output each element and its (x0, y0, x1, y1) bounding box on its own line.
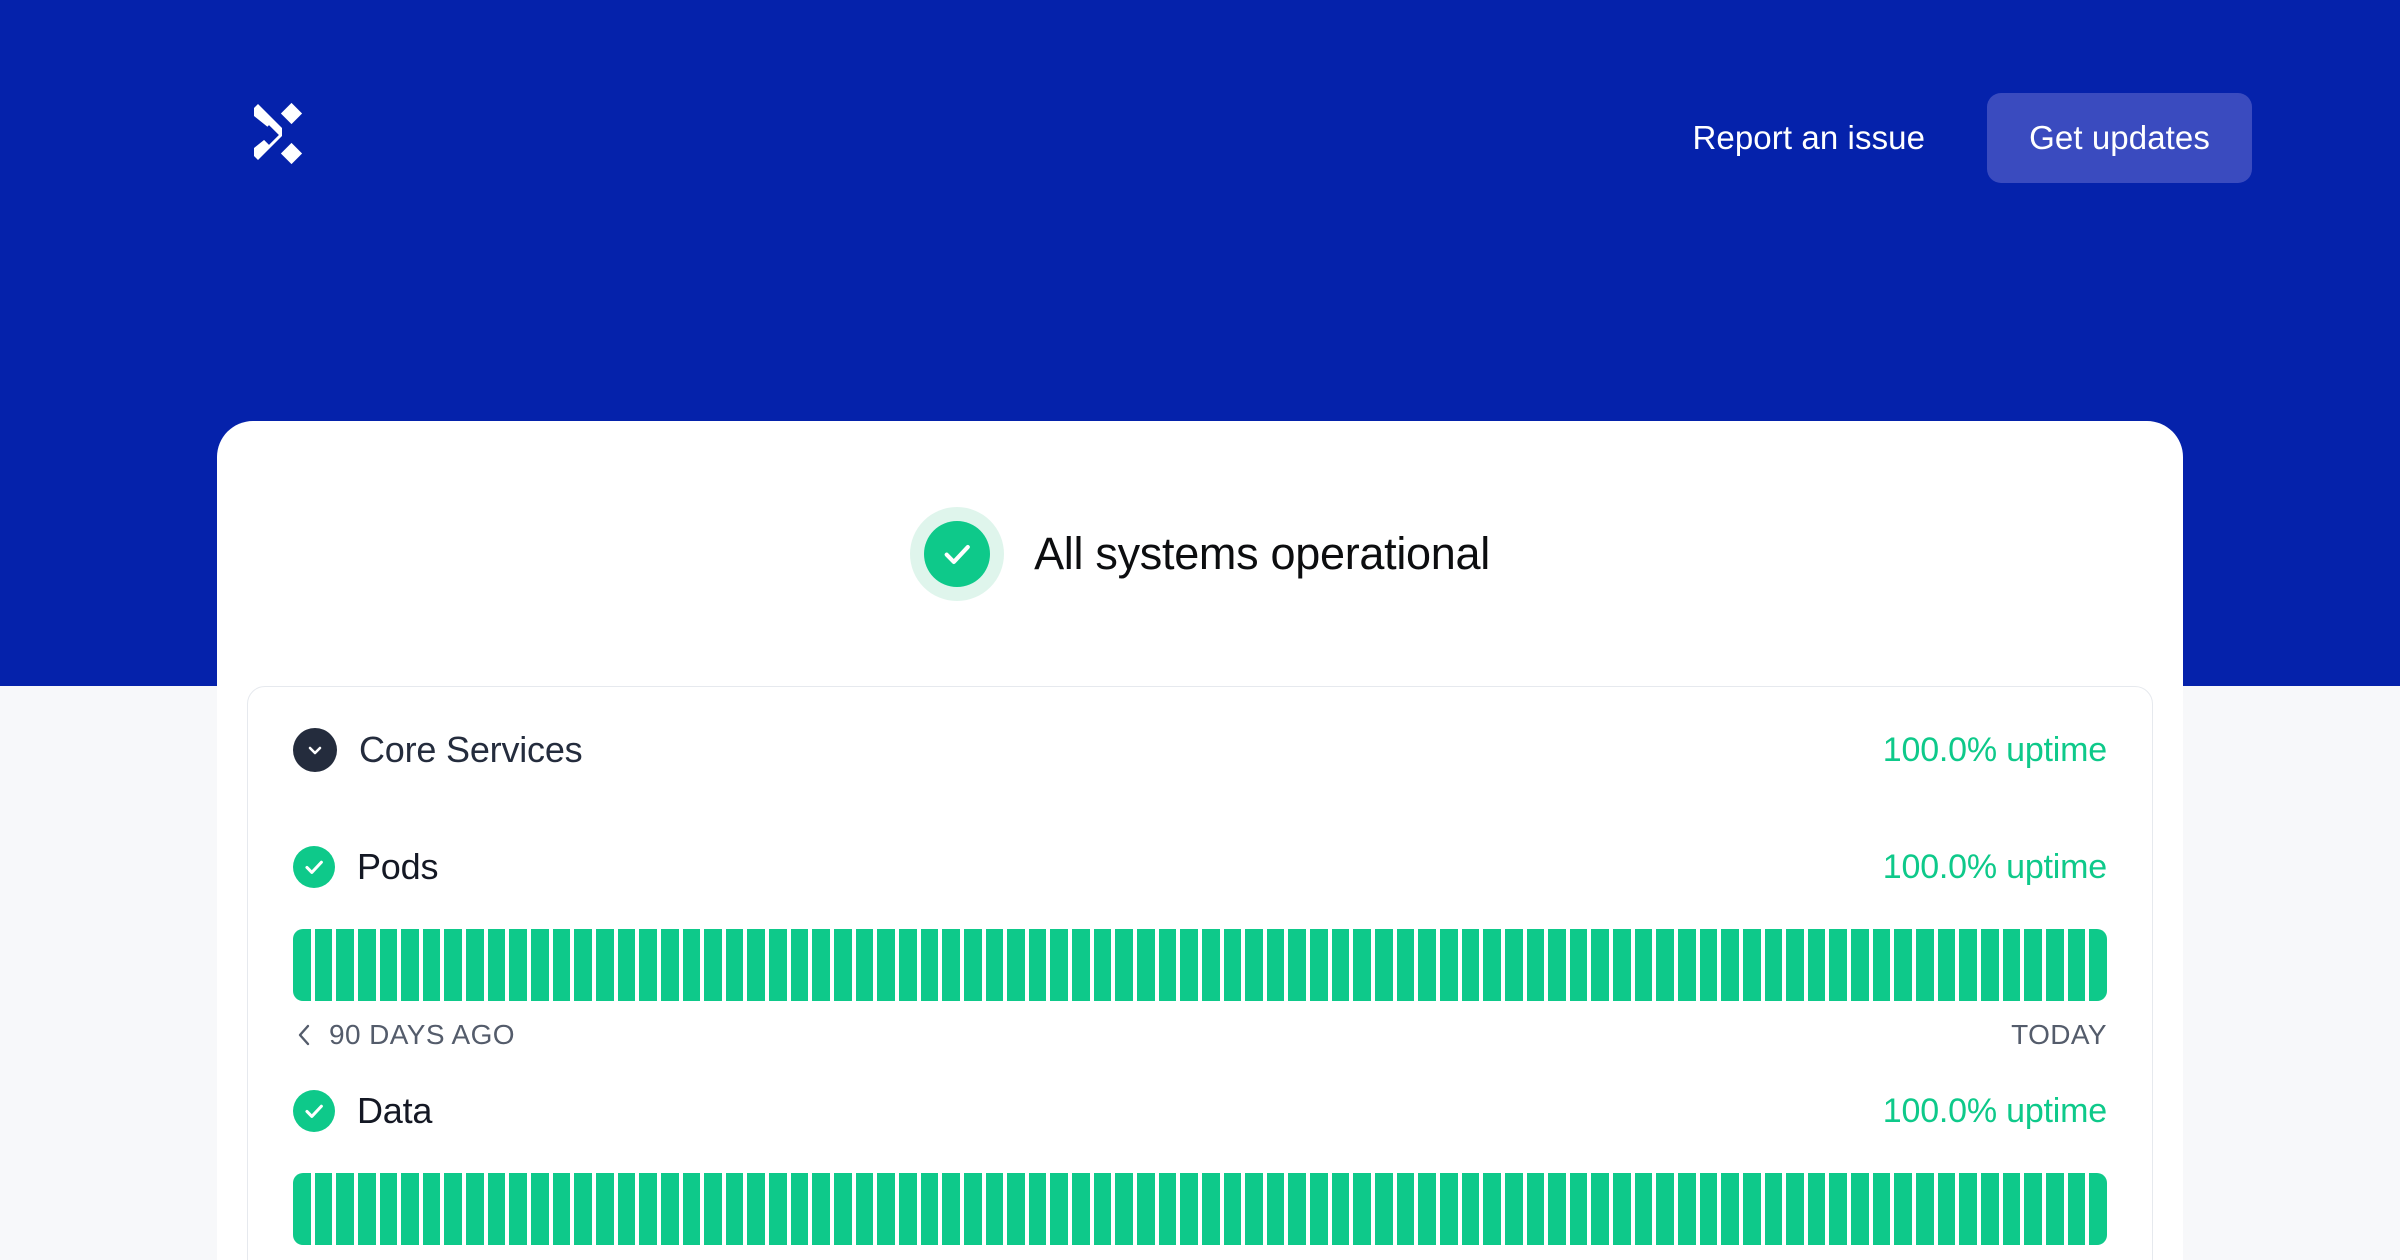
uptime-bar-day[interactable] (1267, 1173, 1285, 1245)
uptime-bar-day[interactable] (1981, 929, 1999, 1001)
uptime-bar-day[interactable] (1202, 1173, 1220, 1245)
uptime-bar-day[interactable] (1029, 1173, 1047, 1245)
service-header-left: Data (293, 1090, 432, 1132)
uptime-bar-day[interactable] (2089, 1173, 2107, 1245)
uptime-bar-day[interactable] (293, 1173, 311, 1245)
uptime-bar-day[interactable] (2089, 929, 2107, 1001)
uptime-bar-day[interactable] (1656, 929, 1674, 1001)
service-name: Data (357, 1090, 432, 1132)
uptime-bar-day[interactable] (553, 1173, 571, 1245)
group-title: Core Services (359, 729, 582, 771)
service-uptime: 100.0% uptime (1883, 848, 2107, 887)
uptime-bar-day[interactable] (1786, 1173, 1804, 1245)
check-circle-icon (293, 846, 335, 888)
uptime-bar-day[interactable] (2024, 1173, 2042, 1245)
uptime-bar-day[interactable] (380, 1173, 398, 1245)
uptime-bar-day[interactable] (1332, 929, 1350, 1001)
uptime-bar-day[interactable] (1007, 929, 1025, 1001)
uptime-bar-day[interactable] (1829, 1173, 1847, 1245)
uptime-bar-day[interactable] (856, 929, 874, 1001)
uptime-bar-day[interactable] (791, 1173, 809, 1245)
uptime-bar-day[interactable] (1353, 1173, 1371, 1245)
uptime-bar-day[interactable] (444, 1173, 462, 1245)
uptime-bar-day[interactable] (899, 929, 917, 1001)
uptime-bar-day[interactable] (704, 1173, 722, 1245)
uptime-bar-day[interactable] (1981, 1173, 1999, 1245)
uptime-bar-day[interactable] (466, 1173, 484, 1245)
previous-period-button[interactable]: 90 DAYS AGO (293, 1019, 515, 1051)
uptime-bar-day[interactable] (1397, 929, 1415, 1001)
uptime-bar-day[interactable] (1224, 929, 1242, 1001)
uptime-bar-day[interactable] (921, 929, 939, 1001)
uptime-bar-day[interactable] (1743, 1173, 1761, 1245)
uptime-bar-day[interactable] (358, 1173, 376, 1245)
uptime-bar-day[interactable] (531, 929, 549, 1001)
uptime-bar-day[interactable] (1115, 929, 1133, 1001)
uptime-bar-day[interactable] (1332, 1173, 1350, 1245)
check-circle-icon (293, 1090, 335, 1132)
status-card: All systems operational Core Services 10… (217, 421, 2183, 1260)
uptime-bar-day[interactable] (834, 1173, 852, 1245)
service-groups-panel: Core Services 100.0% uptime Pods 100.0% … (247, 686, 2153, 1260)
uptime-bar-day[interactable] (986, 929, 1004, 1001)
uptime-bar-day[interactable] (1938, 929, 1956, 1001)
uptime-bar-day[interactable] (1700, 929, 1718, 1001)
uptime-bar-day[interactable] (1202, 929, 1220, 1001)
uptime-bar-day[interactable] (639, 929, 657, 1001)
uptime-bar-day[interactable] (1527, 929, 1545, 1001)
uptime-bar-day[interactable] (596, 929, 614, 1001)
uptime-bar-day[interactable] (1591, 1173, 1609, 1245)
legend-start-label: 90 DAYS AGO (329, 1019, 515, 1051)
uptime-bar-day[interactable] (942, 1173, 960, 1245)
uptime-bar-day[interactable] (1397, 1173, 1415, 1245)
uptime-bar-day[interactable] (380, 929, 398, 1001)
uptime-bar-day[interactable] (1527, 1173, 1545, 1245)
uptime-bar-day[interactable] (2046, 929, 2064, 1001)
uptime-bar-day[interactable] (1916, 929, 1934, 1001)
uptime-bar-day[interactable] (1180, 929, 1198, 1001)
service-header-left: Pods (293, 846, 438, 888)
uptime-bar-day[interactable] (661, 1173, 679, 1245)
uptime-bar-day[interactable] (856, 1173, 874, 1245)
uptime-bar-day[interactable] (1786, 929, 1804, 1001)
uptime-bar-day[interactable] (1635, 1173, 1653, 1245)
uptime-bar-day[interactable] (964, 1173, 982, 1245)
uptime-bar-day[interactable] (401, 1173, 419, 1245)
service-uptime: 100.0% uptime (1883, 1092, 2107, 1131)
uptime-bar-day[interactable] (618, 929, 636, 1001)
uptime-bar-day[interactable] (834, 929, 852, 1001)
uptime-bar-legend: 90 DAYS AGO TODAY (293, 1013, 2107, 1057)
chevron-down-icon[interactable] (293, 728, 337, 772)
uptime-bar-day[interactable] (964, 929, 982, 1001)
uptime-bar-day[interactable] (618, 1173, 636, 1245)
uptime-bar-day[interactable] (704, 929, 722, 1001)
uptime-bar-day[interactable] (553, 929, 571, 1001)
uptime-bar-day[interactable] (1591, 929, 1609, 1001)
uptime-bar-day[interactable] (1007, 1173, 1025, 1245)
report-an-issue-link[interactable]: Report an issue (1678, 109, 1939, 167)
uptime-bar-day[interactable] (1050, 1173, 1068, 1245)
uptime-bar-day[interactable] (1310, 1173, 1328, 1245)
uptime-bar-day[interactable] (2024, 929, 2042, 1001)
uptime-bar-day[interactable] (683, 929, 701, 1001)
header-bar: Report an issue Get updates (0, 0, 2400, 276)
uptime-bar-day[interactable] (1938, 1173, 1956, 1245)
uptime-bar-day[interactable] (1700, 1173, 1718, 1245)
uptime-bar-day[interactable] (1137, 929, 1155, 1001)
uptime-bar-day[interactable] (1483, 1173, 1501, 1245)
uptime-bar-day[interactable] (1851, 929, 1869, 1001)
uptime-bar-day[interactable] (1656, 1173, 1674, 1245)
uptime-bar-day[interactable] (1873, 1173, 1891, 1245)
service-header: Data 100.0% uptime (293, 1065, 2107, 1157)
uptime-bar-day[interactable] (942, 929, 960, 1001)
uptime-bar-day[interactable] (986, 1173, 1004, 1245)
uptime-bar-day[interactable] (1267, 929, 1285, 1001)
get-updates-button[interactable]: Get updates (1987, 93, 2252, 183)
uptime-bar-day[interactable] (1375, 929, 1393, 1001)
uptime-bar-day[interactable] (1894, 1173, 1912, 1245)
uptime-bar-day[interactable] (1959, 1173, 1977, 1245)
check-circle-inner (924, 521, 990, 587)
uptime-bar-day[interactable] (1224, 1173, 1242, 1245)
uptime-bar-day[interactable] (315, 929, 333, 1001)
uptime-bar-day[interactable] (488, 929, 506, 1001)
uptime-bar-day[interactable] (1440, 929, 1458, 1001)
uptime-bar-day[interactable] (1245, 1173, 1263, 1245)
legend-end-label: TODAY (2011, 1019, 2107, 1051)
uptime-bar-day[interactable] (1288, 1173, 1306, 1245)
uptime-bar-day[interactable] (769, 1173, 787, 1245)
uptime-bar-day[interactable] (1721, 1173, 1739, 1245)
service-row-data: Data 100.0% uptime 90 DAYS AGO TODAY (293, 1057, 2107, 1260)
uptime-bar-day[interactable] (531, 1173, 549, 1245)
uptime-bar-day[interactable] (1570, 1173, 1588, 1245)
group-uptime: 100.0% uptime (1883, 731, 2107, 770)
uptime-bar-day[interactable] (1635, 929, 1653, 1001)
uptime-bar-day[interactable] (1072, 1173, 1090, 1245)
uptime-bar-day[interactable] (1159, 1173, 1177, 1245)
uptime-bar-day[interactable] (747, 1173, 765, 1245)
uptime-bar-chart[interactable] (293, 929, 2107, 1001)
uptime-bar-day[interactable] (639, 1173, 657, 1245)
uptime-bar-day[interactable] (1050, 929, 1068, 1001)
uptime-bar-day[interactable] (1505, 1173, 1523, 1245)
uptime-bar-day[interactable] (1765, 1173, 1783, 1245)
uptime-bar-day[interactable] (509, 1173, 527, 1245)
uptime-bar-day[interactable] (488, 1173, 506, 1245)
uptime-bar-day[interactable] (1418, 1173, 1436, 1245)
uptime-bar-day[interactable] (769, 929, 787, 1001)
uptime-bar-day[interactable] (1548, 1173, 1566, 1245)
uptime-bar-day[interactable] (683, 1173, 701, 1245)
uptime-bar-day[interactable] (1505, 929, 1523, 1001)
uptime-bar-day[interactable] (726, 929, 744, 1001)
uptime-bar-day[interactable] (1570, 929, 1588, 1001)
header-nav: Report an issue Get updates (1678, 93, 2400, 183)
uptime-bar-day[interactable] (1418, 929, 1436, 1001)
uptime-bar-day[interactable] (1137, 1173, 1155, 1245)
uptime-bar-day[interactable] (1613, 929, 1631, 1001)
uptime-bar-day[interactable] (509, 929, 527, 1001)
uptime-bar-day[interactable] (1310, 929, 1328, 1001)
uptime-bar-day[interactable] (466, 929, 484, 1001)
overall-status-banner: All systems operational (217, 421, 2183, 686)
uptime-bar-day[interactable] (2003, 1173, 2021, 1245)
chevron-left-icon (293, 1021, 315, 1049)
uptime-bar-day[interactable] (1613, 1173, 1631, 1245)
uptime-bar-day[interactable] (1548, 929, 1566, 1001)
group-header-core-services[interactable]: Core Services 100.0% uptime (293, 687, 2107, 813)
uptime-bar-day[interactable] (1245, 929, 1263, 1001)
uptime-bar-day[interactable] (1765, 929, 1783, 1001)
uptime-bar-day[interactable] (574, 1173, 592, 1245)
uptime-bar-day[interactable] (1375, 1173, 1393, 1245)
uptime-bar-day[interactable] (1462, 929, 1480, 1001)
uptime-bar-day[interactable] (596, 1173, 614, 1245)
uptime-bar-day[interactable] (1808, 1173, 1826, 1245)
status-page-logo[interactable] (248, 102, 304, 174)
uptime-bar-day[interactable] (1462, 1173, 1480, 1245)
uptime-bar-day[interactable] (726, 1173, 744, 1245)
uptime-bar-day[interactable] (1873, 929, 1891, 1001)
uptime-bar-day[interactable] (1678, 929, 1696, 1001)
uptime-bar-day[interactable] (1851, 1173, 1869, 1245)
uptime-bar-day[interactable] (1721, 929, 1739, 1001)
uptime-bar-day[interactable] (1916, 1173, 1934, 1245)
service-row-pods: Pods 100.0% uptime 90 DAYS AGO TODAY (293, 813, 2107, 1057)
uptime-bar-day[interactable] (1808, 929, 1826, 1001)
uptime-bar-day[interactable] (444, 929, 462, 1001)
uptime-bar-day[interactable] (1440, 1173, 1458, 1245)
service-name: Pods (357, 846, 438, 888)
uptime-bar-day[interactable] (574, 929, 592, 1001)
uptime-bar-day[interactable] (1894, 929, 1912, 1001)
uptime-bar-day[interactable] (2003, 929, 2021, 1001)
uptime-bar-day[interactable] (877, 1173, 895, 1245)
uptime-bar-day[interactable] (358, 929, 376, 1001)
overall-status-text: All systems operational (1034, 528, 1490, 580)
uptime-bar-day[interactable] (1678, 1173, 1696, 1245)
uptime-bar-day[interactable] (812, 1173, 830, 1245)
uptime-bar-day[interactable] (423, 1173, 441, 1245)
uptime-bar-day[interactable] (1483, 929, 1501, 1001)
service-header: Pods 100.0% uptime (293, 821, 2107, 913)
uptime-bar-day[interactable] (423, 929, 441, 1001)
uptime-bar-day[interactable] (1072, 929, 1090, 1001)
group-header-left: Core Services (293, 728, 582, 772)
uptime-bar-day[interactable] (877, 929, 895, 1001)
uptime-bar-day[interactable] (1159, 929, 1177, 1001)
uptime-bar-day[interactable] (661, 929, 679, 1001)
uptime-bar-day[interactable] (336, 1173, 354, 1245)
uptime-bar-day[interactable] (1094, 929, 1112, 1001)
uptime-bar-day[interactable] (2068, 1173, 2086, 1245)
uptime-bar-day[interactable] (747, 929, 765, 1001)
uptime-bar-day[interactable] (1353, 929, 1371, 1001)
uptime-bar-day[interactable] (293, 929, 311, 1001)
uptime-bar-day[interactable] (1829, 929, 1847, 1001)
uptime-bar-day[interactable] (1115, 1173, 1133, 1245)
uptime-bar-chart[interactable] (293, 1173, 2107, 1245)
uptime-bar-day[interactable] (1743, 929, 1761, 1001)
uptime-bar-day[interactable] (1180, 1173, 1198, 1245)
uptime-bar-day[interactable] (812, 929, 830, 1001)
uptime-bar-day[interactable] (1094, 1173, 1112, 1245)
uptime-bar-day[interactable] (2068, 929, 2086, 1001)
check-circle-icon (910, 507, 1004, 601)
uptime-bar-day[interactable] (791, 929, 809, 1001)
uptime-bar-day[interactable] (336, 929, 354, 1001)
uptime-bar-day[interactable] (2046, 1173, 2064, 1245)
uptime-bar-day[interactable] (899, 1173, 917, 1245)
uptime-bar-day[interactable] (921, 1173, 939, 1245)
uptime-bar-day[interactable] (401, 929, 419, 1001)
uptime-bar-day[interactable] (315, 1173, 333, 1245)
uptime-bar-day[interactable] (1959, 929, 1977, 1001)
uptime-bar-day[interactable] (1288, 929, 1306, 1001)
uptime-bar-day[interactable] (1029, 929, 1047, 1001)
